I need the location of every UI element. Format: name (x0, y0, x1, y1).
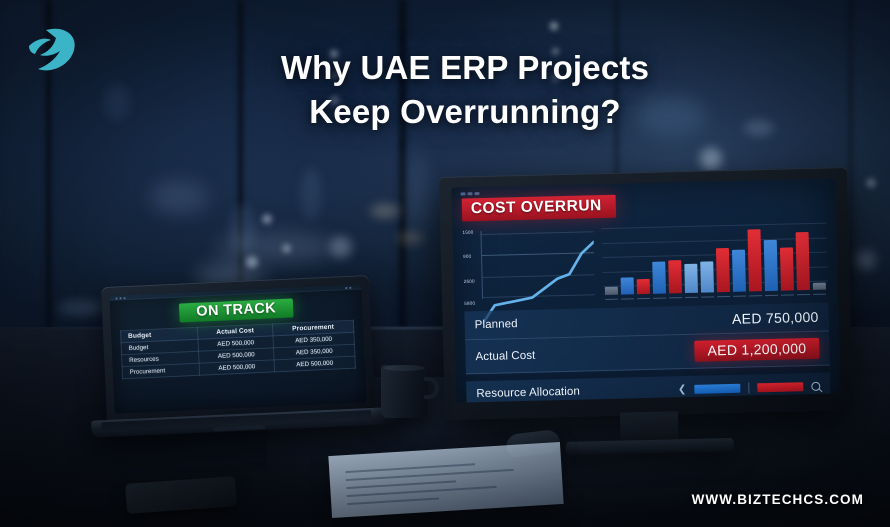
budget-table: Budget Actual Cost Procurement Budget AE… (120, 320, 356, 380)
bar-chart-bar (637, 279, 650, 294)
monitor-device: COST OVERRUN 1500 900 2600 5800 (439, 167, 853, 420)
y-axis-tick-label: 2600 (464, 278, 475, 283)
table-cell-value: AED 500,000 (274, 356, 356, 372)
resource-controls: ❮ (678, 380, 821, 394)
row-resource-allocation: Resource Allocation ❮ (466, 373, 831, 403)
table-cell-label: Procurement (122, 363, 200, 378)
row-value: AED 750,000 (732, 309, 819, 327)
line-chart: 1500 900 2600 5800 (462, 226, 595, 305)
row-label: Resource Allocation (476, 386, 580, 401)
bar-chart-bar (716, 248, 730, 293)
summary-rows: Planned AED 750,000 Actual Cost AED 1,20… (464, 303, 830, 403)
status-badge-on-track: ON TRACK (179, 298, 293, 322)
y-axis-tick-label: 5800 (464, 300, 475, 305)
laptop-device: ON TRACK Budget Actual Cost Procurement … (101, 275, 375, 424)
coffee-mug (381, 365, 428, 418)
title-line-2: Keep Overrunning? (205, 90, 725, 134)
chevron-left-icon[interactable]: ❮ (678, 384, 687, 395)
legend-swatch-red[interactable] (757, 382, 803, 392)
footer-url: WWW.BIZTECHCS.COM (692, 492, 864, 507)
bar-chart-series (603, 223, 826, 295)
swatch-divider (748, 382, 749, 393)
row-label: Actual Cost (475, 349, 535, 362)
bar-chart-bar (732, 250, 746, 292)
bar-chart-bar (764, 240, 778, 291)
bar-chart-bar (780, 248, 794, 291)
biztech-swoosh-logo (24, 24, 78, 76)
bar-chart-bar (748, 230, 763, 292)
monitor-screen: COST OVERRUN 1500 900 2600 5800 (451, 178, 840, 402)
bar-chart-bar (652, 261, 666, 293)
y-axis-tick-label: 900 (463, 254, 471, 259)
monitor-bezel: COST OVERRUN 1500 900 2600 5800 (439, 167, 853, 420)
row-value-highlighted: AED 1,200,000 (694, 338, 819, 362)
bar-chart-bar (684, 263, 698, 293)
bar-chart-bar (700, 261, 714, 293)
laptop-lid: ON TRACK Budget Actual Cost Procurement … (101, 275, 375, 424)
title-line-1: Why UAE ERP Projects (281, 49, 649, 86)
bar-chart-bar (605, 287, 618, 295)
alert-badge-cost-overrun: COST OVERRUN (462, 195, 616, 222)
bar-chart-bar (668, 260, 682, 294)
laptop-screen: ON TRACK Budget Actual Cost Procurement … (109, 284, 366, 413)
bar-chart-bar (796, 232, 810, 290)
bar-chart-bar (621, 277, 634, 295)
screen-indicator-dots (460, 192, 479, 195)
row-label: Planned (475, 318, 518, 331)
page-title: Why UAE ERP Projects Keep Overrunning? (205, 46, 725, 134)
bar-chart-bar (813, 282, 826, 290)
magnifier-icon[interactable] (811, 381, 820, 390)
legend-swatch-blue[interactable] (694, 383, 740, 393)
bar-chart (601, 221, 828, 302)
charts-area: 1500 900 2600 5800 (462, 221, 828, 306)
table-cell-value: AED 500,000 (199, 360, 274, 375)
y-axis-tick-label: 1500 (462, 230, 473, 235)
